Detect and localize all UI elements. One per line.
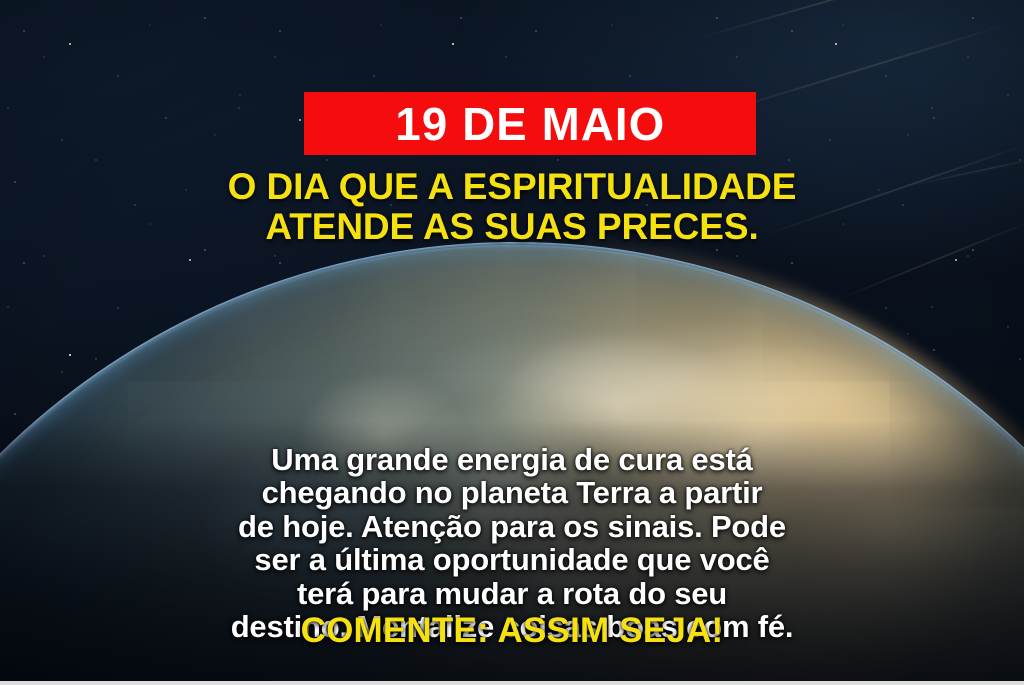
headline: O DIA QUE A ESPIRITUALIDADE ATENDE AS SU… xyxy=(0,167,1024,248)
bottom-strip xyxy=(0,681,1024,685)
body-copy-line-3: de hoje. Atenção para os sinais. Pode xyxy=(0,510,1024,543)
body-copy-line-5: terá para mudar a rota do seu xyxy=(0,577,1024,610)
poster-content: 19 DE MAIO O DIA QUE A ESPIRITUALIDADE A… xyxy=(0,0,1024,685)
body-copy-line-4: ser a última oportunidade que você xyxy=(0,543,1024,576)
poster-canvas: 19 DE MAIO O DIA QUE A ESPIRITUALIDADE A… xyxy=(0,0,1024,685)
body-copy-line-1: Uma grande energia de cura está xyxy=(0,443,1024,476)
date-banner-text: 19 DE MAIO xyxy=(395,101,665,147)
date-banner: 19 DE MAIO xyxy=(304,92,756,155)
headline-line-2: ATENDE AS SUAS PRECES. xyxy=(0,207,1024,247)
call-to-action-text: COMENTE: ASSIM SEJA! xyxy=(0,613,1024,648)
headline-line-1: O DIA QUE A ESPIRITUALIDADE xyxy=(0,167,1024,207)
body-copy-line-2: chegando no planeta Terra a partir xyxy=(0,476,1024,509)
